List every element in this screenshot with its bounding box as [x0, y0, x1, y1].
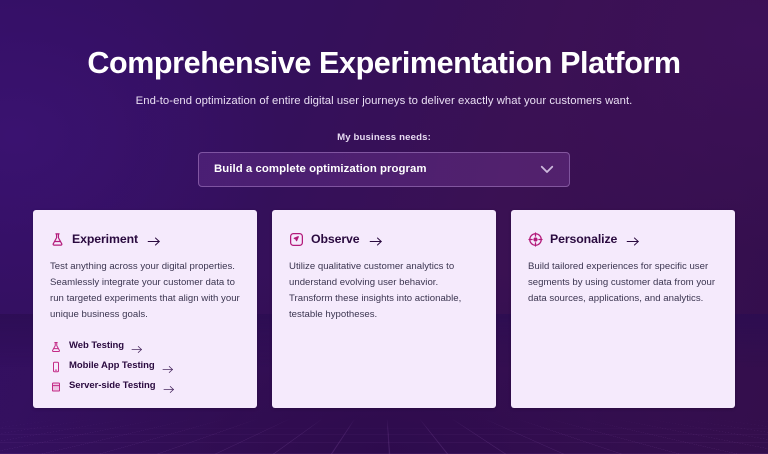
card-header[interactable]: Personalize	[528, 232, 718, 247]
arrow-right-icon	[369, 234, 383, 245]
card-personalize[interactable]: Personalize Build tailored experiences f…	[511, 210, 735, 408]
business-needs-selector: My business needs: Build a complete opti…	[0, 132, 768, 187]
card-header[interactable]: Observe	[289, 232, 479, 247]
page-title: Comprehensive Experimentation Platform	[0, 47, 768, 81]
arrow-right-icon	[163, 381, 175, 390]
link-label: Mobile App Testing	[69, 360, 155, 371]
card-header[interactable]: Experiment	[50, 232, 240, 247]
flask-icon	[50, 232, 65, 247]
feature-cards: Experiment Test anything across your dig…	[0, 210, 768, 408]
arrow-right-icon	[626, 234, 640, 245]
link-label: Web Testing	[69, 340, 124, 351]
link-label: Server-side Testing	[69, 380, 156, 391]
cursor-box-icon	[289, 232, 304, 247]
card-description: Test anything across your digital proper…	[50, 259, 240, 323]
link-server-side-testing[interactable]: Server-side Testing	[50, 380, 240, 392]
mobile-phone-icon	[50, 360, 62, 372]
link-web-testing[interactable]: Web Testing	[50, 340, 240, 352]
page-subtitle: End-to-end optimization of entire digita…	[0, 95, 768, 107]
card-title: Observe	[311, 232, 360, 246]
business-needs-dropdown[interactable]: Build a complete optimization program	[198, 152, 570, 187]
card-link-list: Web Testing Mobile App Testing	[50, 340, 240, 392]
card-observe[interactable]: Observe Utilize qualitative customer ana…	[272, 210, 496, 408]
arrow-right-icon	[162, 361, 174, 370]
card-description: Build tailored experiences for specific …	[528, 259, 718, 307]
server-icon	[50, 380, 62, 392]
arrow-right-icon	[147, 234, 161, 245]
arrow-right-icon	[131, 341, 143, 350]
target-crosshair-icon	[528, 232, 543, 247]
card-description: Utilize qualitative customer analytics t…	[289, 259, 479, 323]
card-title: Personalize	[550, 232, 617, 246]
hero-section: Comprehensive Experimentation Platform E…	[0, 0, 768, 107]
business-needs-label: My business needs:	[0, 132, 768, 143]
dropdown-selected-value: Build a complete optimization program	[214, 163, 538, 175]
flask-icon	[50, 340, 62, 352]
chevron-down-icon	[538, 160, 556, 178]
link-mobile-app-testing[interactable]: Mobile App Testing	[50, 360, 240, 372]
card-title: Experiment	[72, 232, 138, 246]
card-experiment[interactable]: Experiment Test anything across your dig…	[33, 210, 257, 408]
